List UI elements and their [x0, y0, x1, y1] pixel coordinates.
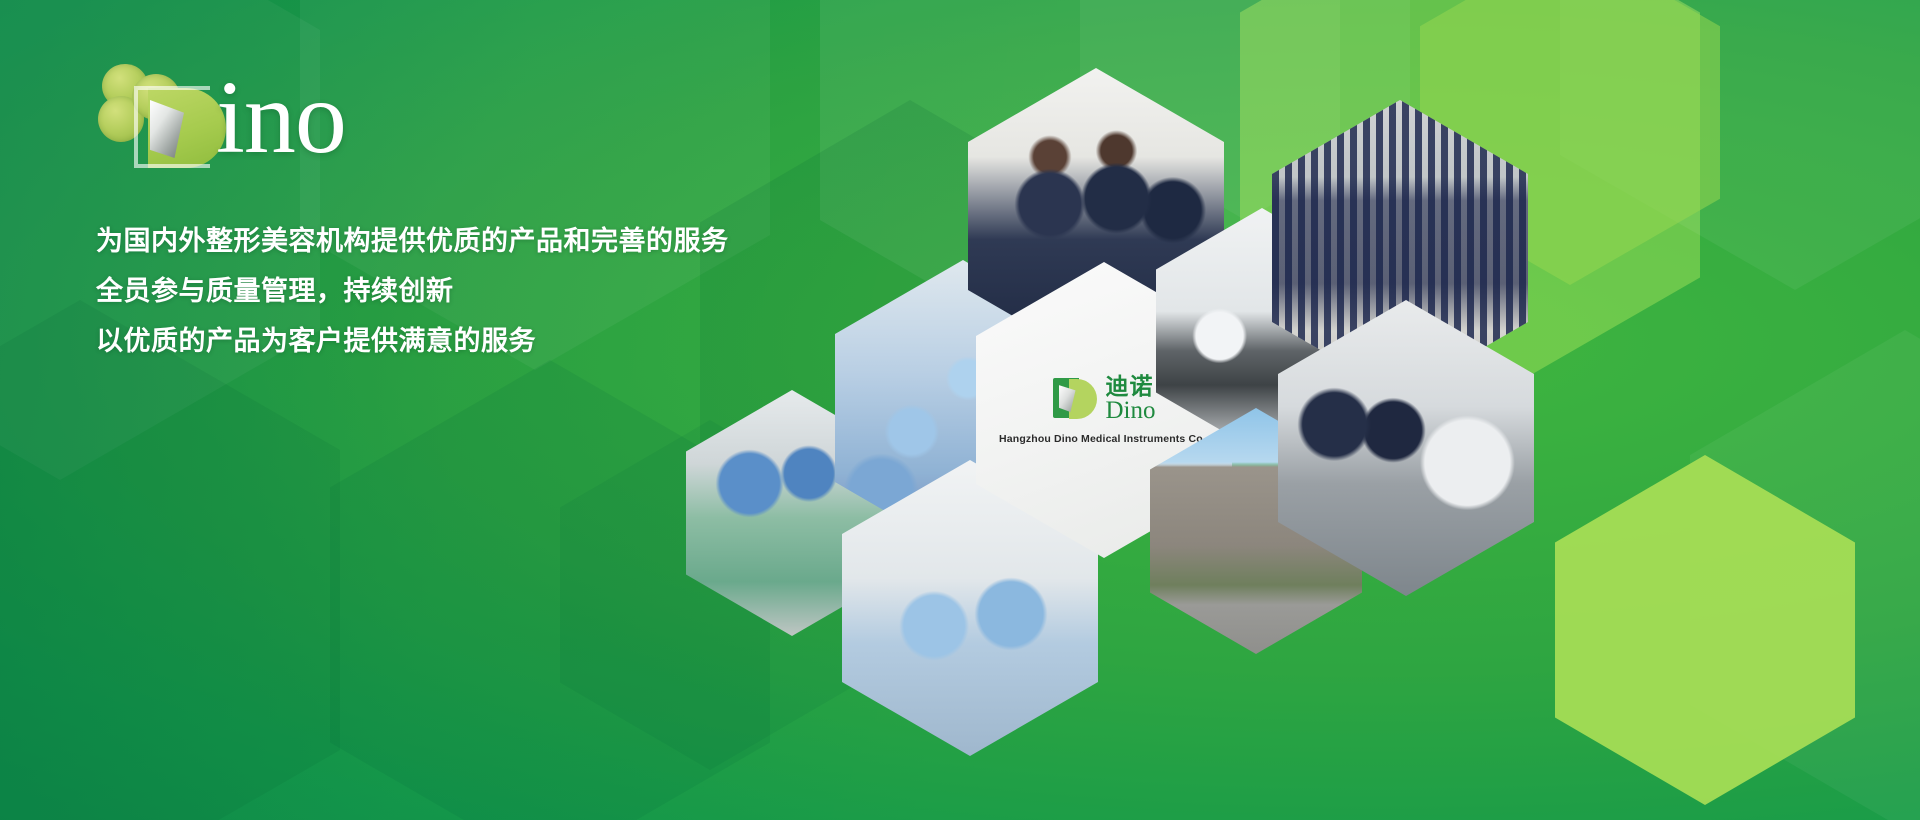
- logo-glyph: [1053, 377, 1097, 421]
- dino-mark-icon: 迪诺 ® Dino: [1053, 375, 1156, 423]
- brand-name-cn: 迪诺 ®: [1106, 375, 1156, 397]
- brand-text: 迪诺 ® Dino: [1106, 375, 1156, 423]
- brand-name-en: Dino: [1106, 398, 1156, 423]
- brand-cn-text: 迪诺: [1106, 373, 1154, 399]
- company-name: Hangzhou Dino Medical Instruments Co..: [999, 433, 1209, 445]
- dino-leaf-logo-icon: [96, 60, 228, 168]
- hero-banner: ino 为国内外整形美容机构提供优质的产品和完善的服务 全员参与质量管理，持续创…: [0, 0, 1920, 820]
- brand-wordmark: ino: [216, 66, 346, 170]
